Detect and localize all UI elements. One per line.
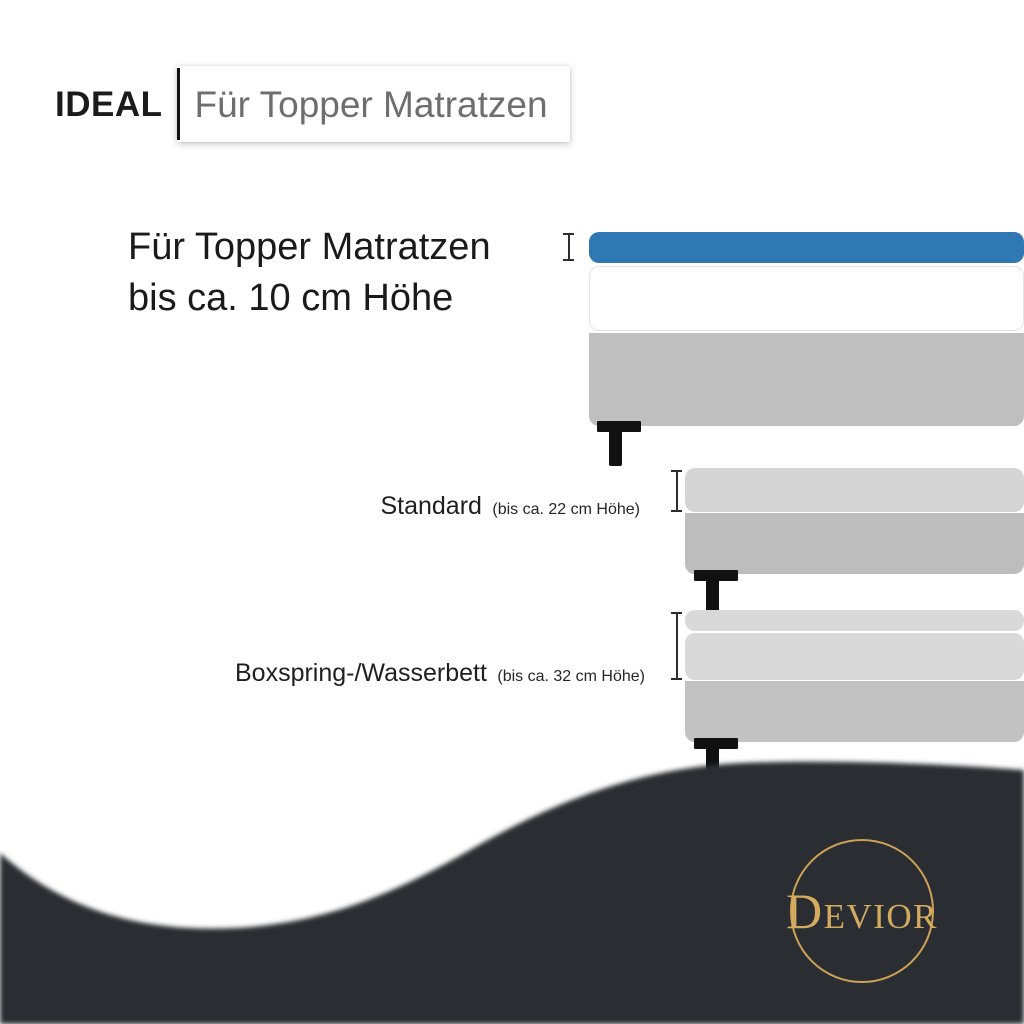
base-layer (589, 333, 1024, 426)
base-layer (685, 513, 1024, 574)
brand-logo: Devior (742, 836, 982, 986)
bed-label-standard-note: (bis ca. 22 cm Höhe) (492, 501, 640, 518)
page-headline: Für Topper Matratzen bis ca. 10 cm Höhe (128, 222, 491, 323)
topper-layer (589, 232, 1024, 263)
headline-line-1: Für Topper Matratzen (128, 222, 491, 273)
infographic-canvas: IDEAL Für Topper Matratzen Für Topper Ma… (0, 0, 1024, 1024)
bracket-stem (676, 470, 678, 512)
bed-diagram-standard (685, 468, 1024, 574)
mattress-layer (685, 633, 1024, 680)
headline-line-2: bis ca. 10 cm Höhe (128, 273, 491, 324)
leg-stem (609, 430, 622, 466)
dimension-bracket-standard (671, 470, 682, 512)
brand-name-label: Devior (742, 886, 982, 936)
bed-label-boxspring-note: (bis ca. 32 cm Höhe) (497, 668, 645, 685)
mattress-layer (589, 266, 1024, 331)
badge-divider-rule (177, 68, 180, 140)
bracket-cap-bottom (563, 259, 574, 261)
topper-layer (685, 610, 1024, 631)
badge-box: Für Topper Matratzen (177, 66, 570, 142)
header-badge: IDEAL Für Topper Matratzen (55, 66, 570, 142)
bed-label-boxspring-title: Boxspring-/Wasserbett (235, 659, 487, 687)
bed-leg-topper (597, 421, 641, 468)
badge-prefix-label: IDEAL (55, 66, 177, 142)
bed-label-standard: Standard (bis ca. 22 cm Höhe) (180, 492, 640, 521)
badge-title-label: Für Topper Matratzen (195, 86, 548, 123)
bracket-stem (676, 612, 678, 680)
bracket-stem (568, 233, 570, 261)
bracket-cap-bottom (671, 678, 682, 680)
dimension-bracket-boxspring (671, 612, 682, 680)
bed-diagram-topper (589, 230, 1024, 430)
bed-label-boxspring: Boxspring-/Wasserbett (bis ca. 32 cm Höh… (120, 659, 645, 688)
bed-label-standard-title: Standard (380, 492, 481, 520)
mattress-layer (685, 468, 1024, 512)
dimension-bracket-topper (563, 233, 574, 261)
bracket-cap-bottom (671, 510, 682, 512)
